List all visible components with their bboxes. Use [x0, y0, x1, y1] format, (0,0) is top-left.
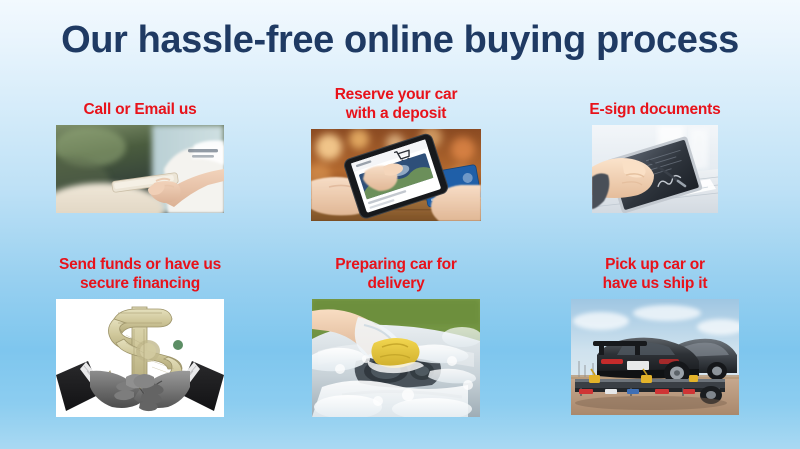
step-label: Send funds or have us secure financing	[30, 255, 250, 293]
tablet-e-signature-photo	[592, 125, 718, 213]
step-image-wrap	[30, 125, 250, 213]
slide-canvas: Our hassle-free online buying process Ca…	[0, 0, 800, 449]
step-label-line1: E-sign documents	[545, 100, 765, 119]
step-label: E-sign documents	[545, 100, 765, 119]
step-image-wrap	[545, 125, 765, 213]
step-call-or-email: Call or Email us	[30, 100, 250, 213]
step-label-line1: Reserve your car	[286, 85, 506, 104]
step-label: Call or Email us	[30, 100, 250, 119]
step-label-line1: Preparing car for	[286, 255, 506, 274]
step-esign-documents: E-sign documents	[545, 100, 765, 213]
car-wash-sponge-photo	[312, 299, 480, 417]
step-label: Pick up car or have us ship it	[545, 255, 765, 293]
step-label-line1: Pick up car or	[545, 255, 765, 274]
step-label-line1: Send funds or have us	[30, 255, 250, 274]
step-label: Preparing car for delivery	[286, 255, 506, 293]
page-title: Our hassle-free online buying process	[0, 18, 800, 62]
step-label-line2: delivery	[286, 274, 506, 293]
step-label-line2: secure financing	[30, 274, 250, 293]
step-label-line2: with a deposit	[286, 104, 506, 123]
step-pickup-or-ship: Pick up car or have us ship it	[545, 255, 765, 415]
step-send-funds: Send funds or have us secure financing	[30, 255, 250, 417]
step-reserve-car: Reserve your car with a deposit	[286, 85, 506, 221]
step-label-line1: Call or Email us	[30, 100, 250, 119]
step-image-wrap	[545, 299, 765, 415]
person-holding-phone-photo	[56, 125, 224, 213]
step-label: Reserve your car with a deposit	[286, 85, 506, 123]
step-label-line2: have us ship it	[545, 274, 765, 293]
step-preparing-car: Preparing car for delivery	[286, 255, 506, 417]
online-shopping-phone-credit-card-photo	[311, 129, 481, 221]
handshake-dollar-sign-photo	[56, 299, 224, 417]
step-image-wrap	[286, 299, 506, 417]
car-on-trailer-photo	[571, 299, 739, 415]
step-image-wrap	[286, 129, 506, 221]
step-image-wrap	[30, 299, 250, 417]
